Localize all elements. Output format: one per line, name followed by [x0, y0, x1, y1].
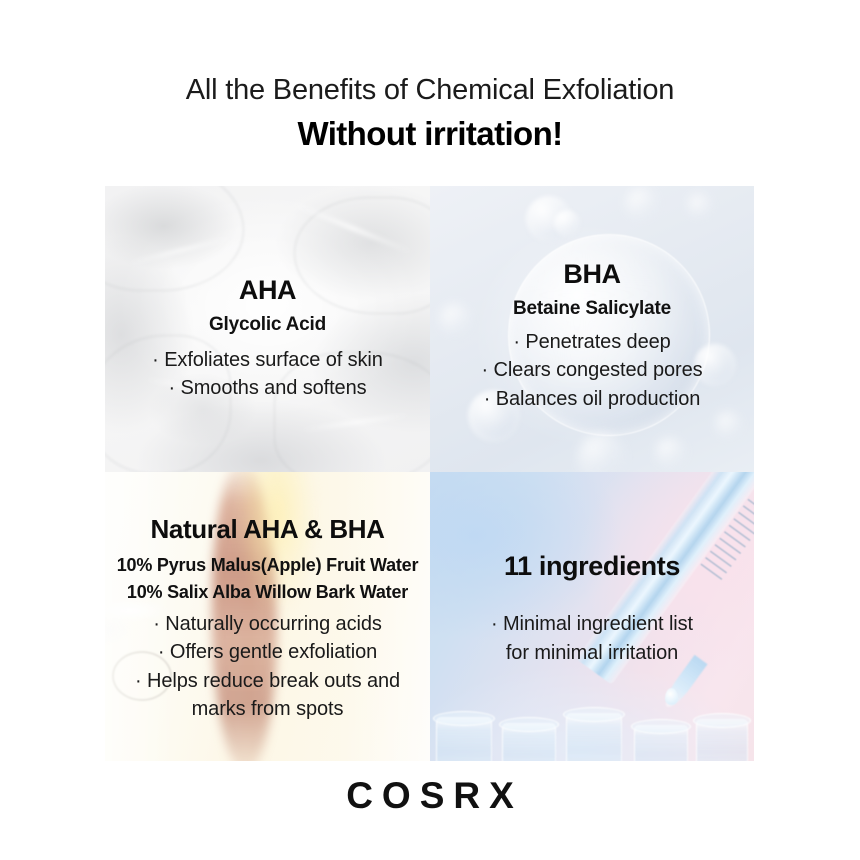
header-line-2: Without irritation!: [0, 113, 860, 156]
aha-subtitle: Glycolic Acid: [105, 312, 430, 338]
natural-item-3: · Helps reduce break outs and: [105, 667, 430, 695]
page-header: All the Benefits of Chemical Exfoliation…: [0, 72, 860, 156]
ingredients-item-1: · Minimal ingredient list: [430, 610, 754, 639]
bha-text-block: BHA Betaine Salicylate · Penetrates deep…: [430, 258, 754, 413]
header-line-1: All the Benefits of Chemical Exfoliation: [0, 72, 860, 108]
quadrant-bha: BHA Betaine Salicylate · Penetrates deep…: [430, 186, 754, 472]
bubble-icon-3: [626, 188, 656, 218]
natural-item-4: marks from spots: [105, 695, 430, 723]
bha-item-2: · Clears congested pores: [430, 356, 754, 384]
natural-subtitle-2: 10% Salix Alba Willow Bark Water: [105, 579, 430, 606]
bubble-icon-9: [656, 438, 684, 466]
aha-item-1: · Exfoliates surface of skin: [105, 346, 430, 374]
bha-subtitle: Betaine Salicylate: [430, 296, 754, 322]
natural-item-2: · Offers gentle exfoliation: [105, 638, 430, 666]
quadrant-natural: Natural AHA & BHA 10% Pyrus Malus(Apple)…: [105, 472, 430, 761]
quadrant-ingredients: 11 ingredients · Minimal ingredient list…: [430, 472, 754, 761]
bubble-icon-2: [554, 210, 580, 236]
bha-item-1: · Penetrates deep: [430, 328, 754, 356]
bha-item-3: · Balances oil production: [430, 385, 754, 413]
ingredients-text-block: 11 ingredients · Minimal ingredient list…: [430, 550, 754, 668]
bubble-icon-4: [688, 194, 710, 216]
quadrant-aha: AHA Glycolic Acid · Exfoliates surface o…: [105, 186, 430, 472]
glass-vial-2: [502, 723, 556, 761]
ingredients-title: 11 ingredients: [430, 550, 754, 582]
glass-vial-4: [634, 725, 688, 761]
cosrx-brand-logo: COSRX: [0, 775, 860, 817]
natural-title: Natural AHA & BHA: [105, 514, 430, 546]
glass-vial-5: [696, 719, 748, 761]
liquid-drop-shape: [665, 688, 678, 705]
aha-title: AHA: [105, 274, 430, 306]
aha-item-2: · Smooths and softens: [105, 374, 430, 402]
bubble-icon-8: [578, 434, 624, 472]
glass-vial-3: [566, 713, 622, 761]
aha-text-block: AHA Glycolic Acid · Exfoliates surface o…: [105, 274, 430, 403]
benefits-grid: AHA Glycolic Acid · Exfoliates surface o…: [105, 186, 754, 761]
glass-vial-1: [436, 717, 492, 761]
natural-text-block: Natural AHA & BHA 10% Pyrus Malus(Apple)…: [105, 514, 430, 723]
natural-item-1: · Naturally occurring acids: [105, 610, 430, 638]
natural-subtitle-1: 10% Pyrus Malus(Apple) Fruit Water: [105, 552, 430, 579]
bha-title: BHA: [430, 258, 754, 290]
bubble-icon-10: [716, 412, 740, 436]
ingredients-item-2: for minimal irritation: [430, 639, 754, 668]
